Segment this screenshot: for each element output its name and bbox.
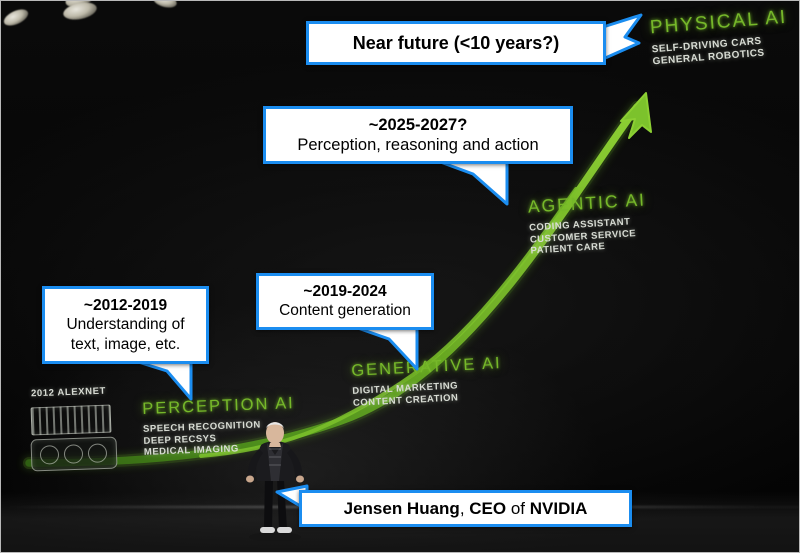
callout-generative-line2: Content generation [259,301,431,321]
callout-speaker-credit[interactable]: Jensen Huang, CEO of NVIDIA [299,490,632,527]
stage-label-generative: GENERATIVE AI DIGITAL MARKETING CONTENT … [351,354,504,409]
gpu-fan-icon [64,444,84,464]
gpu-card-image [30,437,117,472]
gpu-fan-icon [40,445,60,465]
gpu-fan-icon [88,443,108,463]
stage-bullets-agentic: CODING ASSISTANT CUSTOMER SERVICE PATIEN… [529,215,649,257]
speaker-name: Jensen Huang [344,499,460,518]
callout-agentic-line1: ~2025-2027? [266,115,570,135]
callout-speaker-text: Jensen Huang, CEO of NVIDIA [302,499,629,519]
callout-agentic-era[interactable]: ~2025-2027? Perception, reasoning and ac… [263,106,573,164]
callout-agentic-line2: Perception, reasoning and action [266,135,570,156]
callout-near-future[interactable]: Near future (<10 years?) [306,21,606,65]
callout-generative-era[interactable]: ~2019-2024 Content generation [256,273,434,330]
callout-generative-line1: ~2019-2024 [259,282,431,301]
speaker-connector: of [506,499,530,518]
callout-perception-era[interactable]: ~2012-2019 Understanding of text, image,… [42,286,209,364]
callout-perception-line3: text, image, etc. [45,335,206,355]
gpu-memory-chips-image [31,405,112,436]
speaker-company: NVIDIA [530,499,588,518]
speaker-separator: , [460,499,469,518]
callout-perception-line1: ~2012-2019 [45,296,206,315]
slide-canvas: PERCEPTION AI SPEECH RECOGNITION DEEP RE… [0,0,800,553]
callout-near-future-line1: Near future (<10 years?) [309,33,603,54]
stage-label-agentic: AGENTIC AI CODING ASSISTANT CUSTOMER SER… [527,189,649,257]
speaker-role: CEO [469,499,506,518]
callout-perception-line2: Understanding of [45,315,206,335]
stage-label-physical: PHYSICAL AI SELF-DRIVING CARS GENERAL RO… [649,7,790,69]
